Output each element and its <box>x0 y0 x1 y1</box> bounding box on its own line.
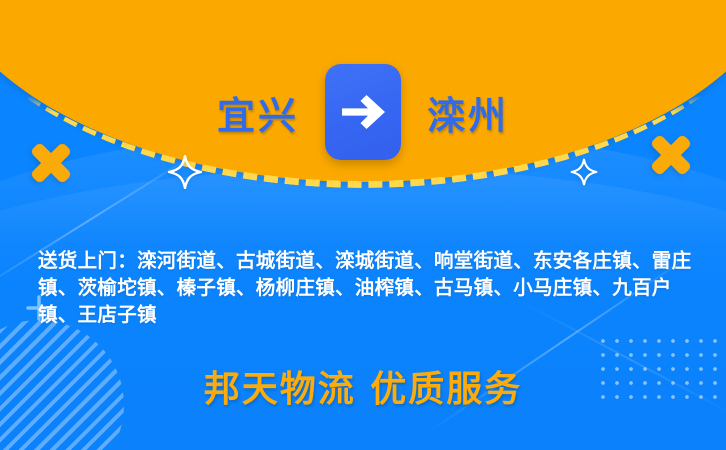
route-arrow-button[interactable] <box>325 64 401 160</box>
delivery-areas-text: 送货上门：滦河街道、古城街道、滦城街道、响堂街道、东安各庄镇、雷庄镇、茨榆坨镇、… <box>38 247 694 328</box>
arrow-right-icon <box>338 93 388 131</box>
white-sparkle-icon-right <box>570 158 598 191</box>
route-header: 宜兴 滦州 <box>0 62 726 162</box>
company-slogan: 邦天物流 优质服务 <box>0 360 726 412</box>
logistics-route-banner: 宜兴 滦州 送货上门：滦河街道、古城街道、滦城街道、响堂街道、东安各庄镇、雷庄镇… <box>0 0 726 450</box>
origin-city: 宜兴 <box>217 85 299 140</box>
destination-city: 滦州 <box>427 85 509 140</box>
